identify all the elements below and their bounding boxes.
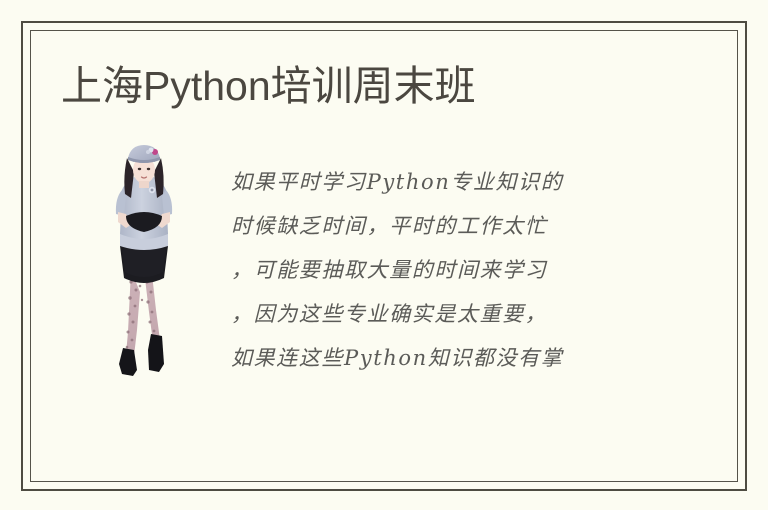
body-copy-line: ，可能要抽取大量的时间来学习 — [231, 248, 655, 292]
model-photo — [104, 142, 184, 382]
page-title: 上海Python培训周末班 — [61, 58, 701, 114]
body-copy-line: 如果连这些Python知识都没有掌 — [231, 336, 655, 380]
promo-card: 上海Python培训周末班 — [0, 0, 768, 510]
body-copy-line: 如果平时学习Python专业知识的 — [231, 160, 655, 204]
body-copy-line: 时候缺乏时间，平时的工作太忙 — [231, 204, 655, 248]
body-copy: 如果平时学习Python专业知识的 时候缺乏时间，平时的工作太忙 ，可能要抽取大… — [231, 160, 655, 380]
body-copy-line: ，因为这些专业确实是太重要， — [231, 292, 655, 336]
